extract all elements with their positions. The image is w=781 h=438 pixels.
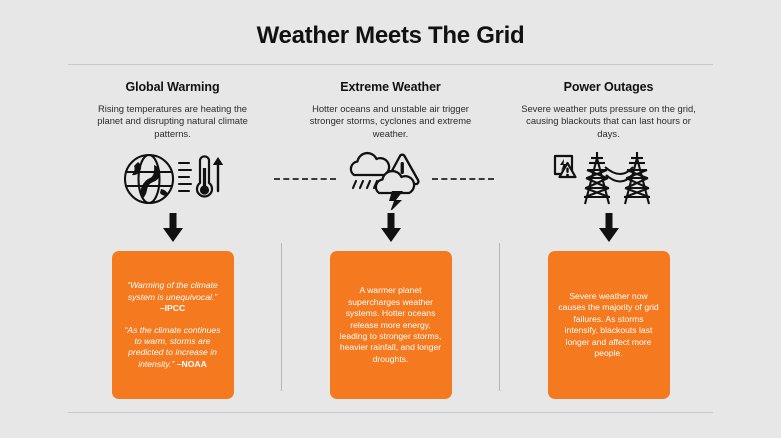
connector-warming-to-weather — [274, 178, 336, 180]
infographic-canvas: Weather Meets The Grid Global Warming Ri… — [0, 0, 781, 438]
divider-bottom — [68, 412, 713, 413]
down-arrow-icon — [598, 213, 620, 248]
power-transmission-towers-outage-icon — [553, 150, 665, 208]
column-description-power-outages: Severe weather puts pressure on the grid… — [521, 103, 696, 140]
column-heading-extreme-weather: Extreme Weather — [340, 80, 440, 94]
down-arrow-icon — [162, 213, 184, 248]
card-quote-noaa-attribution: –NOAA — [177, 359, 207, 369]
divider-top — [68, 64, 713, 65]
column-power-outages: Power Outages Severe weather puts pressu… — [504, 80, 713, 399]
column-extreme-weather: Extreme Weather Hotter oceans and unstab… — [286, 80, 495, 399]
column-heading-global-warming: Global Warming — [126, 80, 220, 94]
icon-zone-power-outages — [504, 148, 713, 210]
globe-thermometer-icon — [121, 151, 225, 207]
card-quote-ipcc-attribution: –IPCC — [160, 303, 185, 313]
card-global-warming: “Warming of the climate system is unequi… — [112, 251, 234, 399]
column-description-extreme-weather: Hotter oceans and unstable air trigger s… — [303, 103, 478, 140]
arrow-zone-global-warming — [162, 213, 184, 247]
down-arrow-icon — [380, 213, 402, 248]
page-title: Weather Meets The Grid — [0, 22, 781, 50]
column-global-warming: Global Warming Rising temperatures are h… — [68, 80, 277, 399]
card-quote-ipcc-text: “Warming of the climate system is unequi… — [127, 280, 218, 301]
column-divider-2 — [495, 80, 504, 395]
card-body-power-outages: Severe weather now causes the majority o… — [557, 291, 661, 359]
arrow-zone-extreme-weather — [380, 213, 402, 247]
columns-container: Global Warming Rising temperatures are h… — [68, 80, 713, 395]
column-description-global-warming: Rising temperatures are heating the plan… — [85, 103, 260, 140]
storm-cloud-lightning-warning-icon — [348, 148, 434, 210]
column-divider-1 — [277, 80, 286, 395]
card-body-extreme-weather: A warmer planet supercharges weather sys… — [339, 285, 443, 365]
column-heading-power-outages: Power Outages — [564, 80, 654, 94]
arrow-zone-power-outages — [598, 213, 620, 247]
card-extreme-weather: A warmer planet supercharges weather sys… — [330, 251, 452, 399]
card-quote-ipcc: “Warming of the climate system is unequi… — [121, 280, 225, 314]
connector-weather-to-outages — [432, 178, 494, 180]
card-power-outages: Severe weather now causes the majority o… — [548, 251, 670, 399]
card-quote-noaa: “As the climate continues to warm, storm… — [121, 325, 225, 371]
icon-zone-global-warming — [68, 148, 277, 210]
